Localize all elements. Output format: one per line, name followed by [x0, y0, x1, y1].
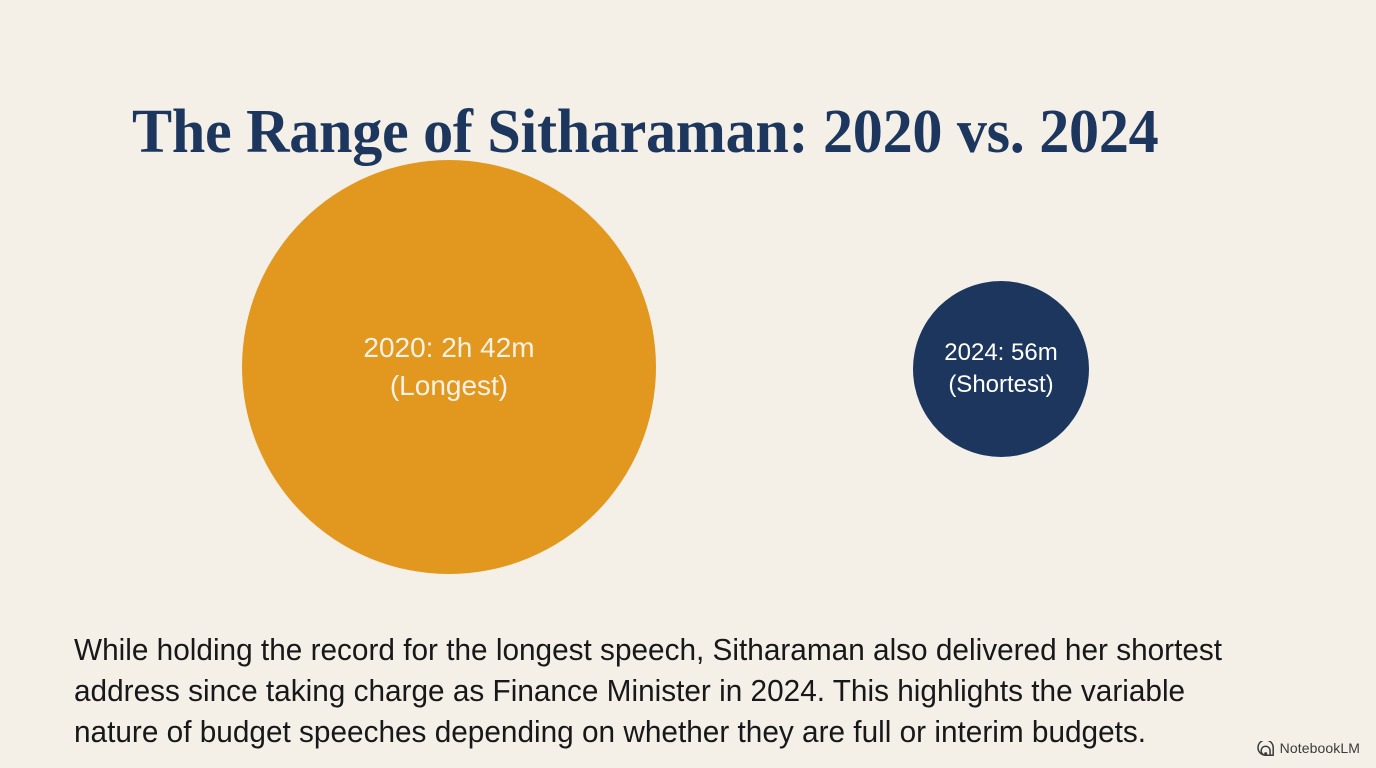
bubble-chart: 2020: 2h 42m (Longest) 2024: 56m (Shorte…: [0, 150, 1376, 590]
bubble-2024-value-label: 2024: 56m: [944, 337, 1057, 369]
bubble-2024-qualifier-label: (Shortest): [948, 369, 1053, 401]
bubble-2020-value-label: 2020: 2h 42m: [363, 329, 534, 367]
infographic-slide: The Range of Sitharaman: 2020 vs. 2024 2…: [0, 0, 1376, 768]
watermark: NotebookLM: [1257, 741, 1360, 756]
bubble-2024: 2024: 56m (Shortest): [913, 281, 1089, 457]
bubble-2020-qualifier-label: (Longest): [390, 367, 508, 405]
watermark-label: NotebookLM: [1280, 741, 1360, 756]
caption-text: While holding the record for the longest…: [74, 629, 1261, 752]
notebooklm-spiral-icon: [1257, 741, 1274, 756]
bubble-2020: 2020: 2h 42m (Longest): [242, 160, 656, 574]
